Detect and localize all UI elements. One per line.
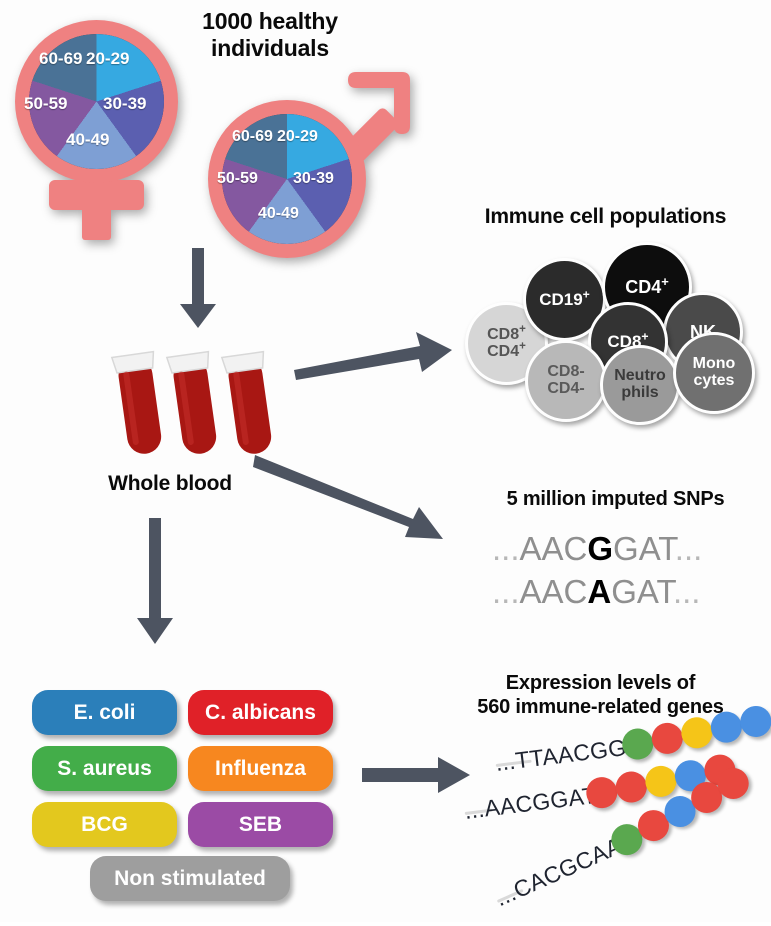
whole-blood-label: Whole blood bbox=[60, 472, 280, 497]
female-age-label-50-59: 50-59 bbox=[24, 94, 67, 114]
snp-variant-1: G bbox=[587, 530, 613, 567]
snp-right-2: GAT bbox=[611, 573, 673, 610]
immune-cell-monocytes: Monocytes bbox=[673, 332, 755, 414]
stimulus-c-albicans[interactable]: C. albicans bbox=[188, 690, 333, 735]
stimulus-label-non-stimulated: Non stimulated bbox=[114, 867, 266, 891]
immune-cell-label-cd4: CD4+ bbox=[625, 278, 669, 297]
male-age-label-20-29: 20-29 bbox=[277, 128, 318, 146]
stimulus-label-seb: SEB bbox=[239, 813, 282, 837]
snp-suffix-1: ... bbox=[675, 530, 703, 567]
expression-dot-2-3 bbox=[644, 764, 679, 799]
immune-cell-label-cd8pos-cd4pos: CD8+CD4+ bbox=[487, 327, 526, 360]
snp-right-1: GAT bbox=[613, 530, 675, 567]
arrow-blood-to-stimuli bbox=[135, 518, 175, 646]
stimulus-bcg[interactable]: BCG bbox=[32, 802, 177, 847]
cohort-title-line1: 1000 healthy bbox=[170, 8, 370, 35]
immune-cell-cluster: CD8+CD4+ CD19+ CD4+ NK CD8+ CD8-CD4- Neu… bbox=[465, 240, 771, 420]
stimulus-label-bcg: BCG bbox=[81, 813, 128, 837]
stimulus-influenza[interactable]: Influenza bbox=[188, 746, 333, 791]
stimulus-label-influenza: Influenza bbox=[215, 757, 306, 781]
stimulus-label-e-coli: E. coli bbox=[74, 701, 136, 725]
expression-dot-2-2 bbox=[614, 770, 649, 805]
expression-dot-1-4 bbox=[709, 710, 744, 745]
arrow-blood-to-snps bbox=[253, 447, 449, 545]
stimulus-label-c-albicans: C. albicans bbox=[205, 701, 316, 725]
snp-left-2: AAC bbox=[520, 573, 588, 610]
arrow-stimuli-to-expression bbox=[362, 755, 472, 795]
female-age-label-40-49: 40-49 bbox=[66, 130, 109, 150]
snp-suffix-2: ... bbox=[673, 573, 701, 610]
female-cross bbox=[49, 180, 144, 210]
immune-cell-label-cd8neg-cd4neg: CD8-CD4- bbox=[547, 364, 584, 397]
male-symbol: 20-29 30-39 40-49 50-59 60-69 bbox=[192, 60, 427, 260]
expression-title-line1: Expression levels of bbox=[430, 672, 771, 696]
male-age-label-60-69: 60-69 bbox=[232, 128, 273, 146]
snp-left-1: AAC bbox=[520, 530, 588, 567]
expression-dot-1-3 bbox=[680, 715, 715, 750]
female-symbol: 20-29 30-39 40-49 50-59 60-69 bbox=[8, 14, 188, 244]
snp-sequence-row-1: ...AACGGAT... bbox=[492, 530, 702, 568]
arrow-cohort-to-blood bbox=[178, 248, 218, 330]
female-age-label-30-39: 30-39 bbox=[103, 94, 146, 114]
immune-cell-label-monocytes: Monocytes bbox=[693, 356, 736, 389]
stimulus-non-stimulated[interactable]: Non stimulated bbox=[90, 856, 290, 901]
arrow-blood-to-immune bbox=[292, 326, 454, 382]
immune-populations-title: Immune cell populations bbox=[440, 205, 771, 230]
male-age-label-40-49: 40-49 bbox=[258, 205, 299, 223]
snp-prefix-1: ... bbox=[492, 530, 520, 567]
male-age-label-50-59: 50-59 bbox=[217, 170, 258, 188]
expression-dot-1-2 bbox=[650, 721, 685, 756]
snp-sequence-row-2: ...AACAGAT... bbox=[492, 573, 700, 611]
female-age-label-60-69: 60-69 bbox=[39, 49, 82, 69]
expression-sequence-1: ...TTAACGG bbox=[494, 734, 628, 777]
female-age-label-20-29: 20-29 bbox=[86, 49, 129, 69]
cohort-title: 1000 healthy individuals bbox=[170, 8, 370, 62]
expression-sequence-2: ...AACGGAT bbox=[463, 782, 598, 825]
stimulus-e-coli[interactable]: E. coli bbox=[32, 690, 177, 735]
snps-title: 5 million imputed SNPs bbox=[460, 488, 771, 512]
male-age-label-30-39: 30-39 bbox=[293, 170, 334, 188]
stimulus-label-s-aureus: S. aureus bbox=[57, 757, 152, 781]
immune-cell-label-cd19: CD19+ bbox=[539, 291, 590, 309]
snp-prefix-2: ... bbox=[492, 573, 520, 610]
stimulus-seb[interactable]: SEB bbox=[188, 802, 333, 847]
stimulus-s-aureus[interactable]: S. aureus bbox=[32, 746, 177, 791]
immune-cell-neutrophils: Neutrophils bbox=[600, 345, 680, 425]
expression-sequence-3: ...CACGCAA bbox=[491, 832, 626, 912]
immune-cell-cd8neg-cd4neg: CD8-CD4- bbox=[525, 340, 607, 422]
snp-variant-2: A bbox=[587, 573, 611, 610]
immune-cell-label-neutrophils: Neutrophils bbox=[614, 368, 666, 401]
